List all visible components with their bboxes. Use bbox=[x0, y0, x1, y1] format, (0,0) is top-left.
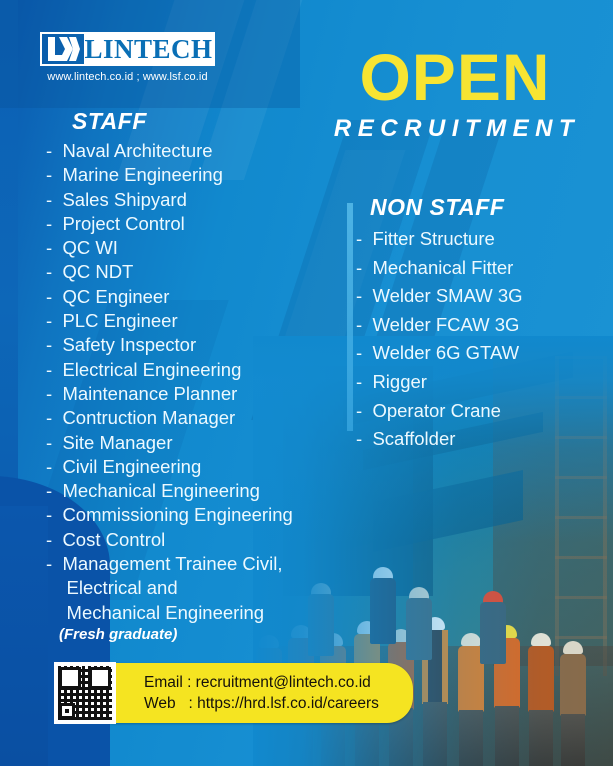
job-list-item: - Fitter Structure bbox=[356, 225, 606, 254]
job-list-item: - Rigger bbox=[356, 368, 606, 397]
job-list-item: - Marine Engineering bbox=[46, 163, 346, 187]
job-list-item: - Mechanical Fitter bbox=[356, 254, 606, 283]
job-list-item: - Operator Crane bbox=[356, 397, 606, 426]
headline-block: OPEN RECRUITMENT bbox=[305, 46, 605, 141]
lintech-chevron-logo-icon bbox=[42, 34, 84, 64]
job-list-item: - PLC Engineer bbox=[46, 309, 346, 333]
job-list-item: - QC Engineer bbox=[46, 285, 346, 309]
job-list-item: - Project Control bbox=[46, 212, 346, 236]
job-list-item: - Naval Architecture bbox=[46, 139, 346, 163]
contact-pill: Email : recruitment@lintech.co.id Web : … bbox=[110, 663, 413, 723]
staff-column: STAFF - Naval Architecture- Marine Engin… bbox=[46, 108, 346, 645]
job-list-item: - Welder SMAW 3G bbox=[356, 282, 606, 311]
job-list-item: - Cost Control bbox=[46, 528, 346, 552]
recruitment-poster: LINTECH www.lintech.co.id ; www.lsf.co.i… bbox=[0, 0, 613, 766]
job-list-item: - Contruction Manager bbox=[46, 406, 346, 430]
brand-logo: LINTECH www.lintech.co.id ; www.lsf.co.i… bbox=[40, 32, 215, 83]
job-list-item: - Scaffolder bbox=[356, 425, 606, 454]
job-list-item: - Safety Inspector bbox=[46, 333, 346, 357]
headline-recruitment: RECRUITMENT bbox=[305, 117, 605, 141]
brand-website: www.lintech.co.id ; www.lsf.co.id bbox=[38, 71, 217, 83]
staff-job-list: - Naval Architecture- Marine Engineering… bbox=[46, 139, 346, 625]
contact-block: Email : recruitment@lintech.co.id Web : … bbox=[54, 662, 413, 724]
job-list-item: - QC WI bbox=[46, 236, 346, 260]
non-staff-title: NON STAFF bbox=[356, 194, 606, 221]
job-list-item: - Maintenance Planner bbox=[46, 382, 346, 406]
job-list-item: - Civil Engineering bbox=[46, 455, 346, 479]
job-list-item: - Sales Shipyard bbox=[46, 188, 346, 212]
column-divider bbox=[347, 203, 353, 431]
job-list-item: Electrical and bbox=[46, 576, 346, 600]
contact-web[interactable]: Web : https://hrd.lsf.co.id/careers bbox=[144, 693, 379, 714]
staff-note: (Fresh graduate) bbox=[46, 625, 346, 645]
job-list-item: - Mechanical Engineering bbox=[46, 479, 346, 503]
non-staff-job-list: - Fitter Structure- Mechanical Fitter- W… bbox=[356, 225, 606, 454]
job-list-item: - Site Manager bbox=[46, 431, 346, 455]
qr-code-icon[interactable] bbox=[54, 662, 116, 724]
corner-swoosh-accent bbox=[0, 506, 48, 766]
contact-email[interactable]: Email : recruitment@lintech.co.id bbox=[144, 672, 379, 693]
job-list-item: Mechanical Engineering bbox=[46, 601, 346, 625]
logo-wordmark: LINTECH bbox=[84, 34, 213, 64]
job-list-item: - QC NDT bbox=[46, 260, 346, 284]
job-list-item: - Electrical Engineering bbox=[46, 358, 346, 382]
staff-title: STAFF bbox=[46, 108, 346, 135]
job-list-item: - Welder 6G GTAW bbox=[356, 339, 606, 368]
job-list-item: - Management Trainee Civil, bbox=[46, 552, 346, 576]
headline-open: OPEN bbox=[305, 46, 605, 109]
job-list-item: - Welder FCAW 3G bbox=[356, 311, 606, 340]
non-staff-column: NON STAFF - Fitter Structure- Mechanical… bbox=[356, 194, 606, 454]
job-list-item: - Commissioning Engineering bbox=[46, 503, 346, 527]
